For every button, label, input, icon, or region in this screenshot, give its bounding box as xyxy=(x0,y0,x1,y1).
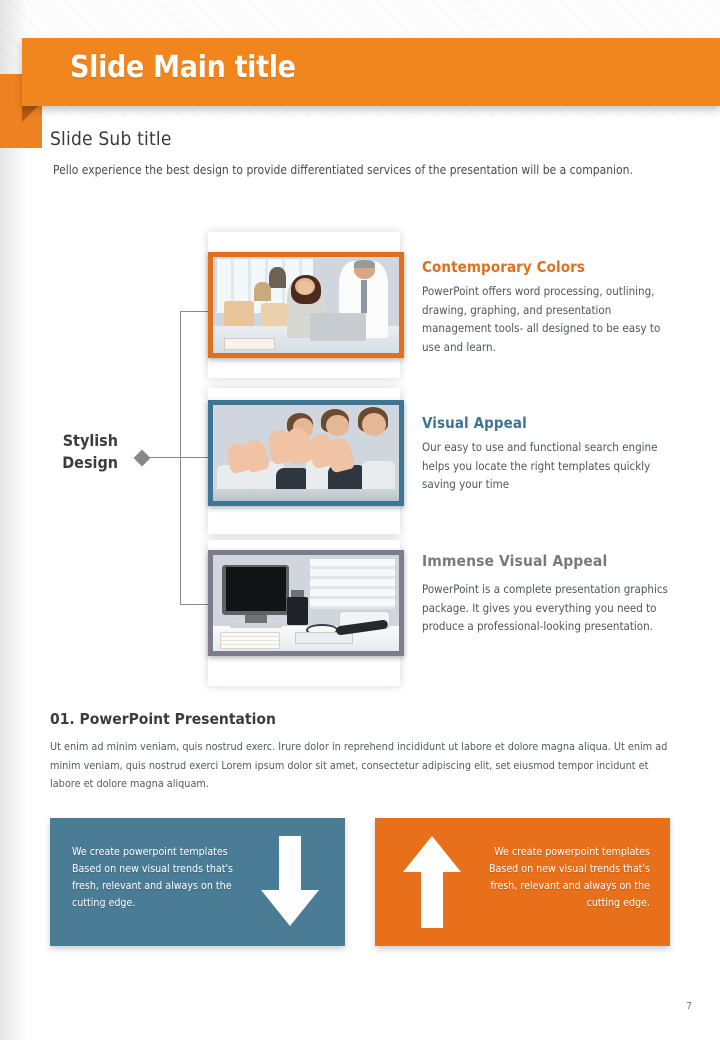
office-meeting-photo xyxy=(213,257,399,353)
slide-lead-text: Pello experience the best design to prov… xyxy=(53,163,633,177)
page-number: 7 xyxy=(686,1001,692,1012)
slide-canvas: Slide Main title Slide Sub title Pello e… xyxy=(0,0,720,1040)
connector-line-bottom-branch xyxy=(180,604,208,605)
feature-heading-1: Contemporary Colors xyxy=(422,258,672,276)
feature-photo-frame-2[interactable] xyxy=(208,400,404,506)
feature-body-1: PowerPoint offers word processing, outli… xyxy=(422,282,672,357)
connector-line-main xyxy=(148,457,208,458)
left-edge-shadow xyxy=(0,0,28,1040)
section-title: 01. PowerPoint Presentation xyxy=(50,710,276,728)
feature-group-label-line1: Stylish xyxy=(63,431,118,450)
arrow-up-icon xyxy=(401,836,463,928)
feature-group-label-line2: Design xyxy=(62,453,118,472)
feature-photo-frame-1[interactable] xyxy=(208,252,404,358)
ribbon-bar: Slide Main title xyxy=(22,38,720,106)
feature-heading-2: Visual Appeal xyxy=(422,414,672,432)
feature-body-3: PowerPoint is a complete presentation gr… xyxy=(422,580,672,636)
desk-workspace-photo xyxy=(213,555,399,651)
connector-line-vertical xyxy=(180,311,181,604)
feature-text-block-1: Contemporary Colors PowerPoint offers wo… xyxy=(422,258,672,357)
slide-main-title: Slide Main title xyxy=(70,50,296,85)
cta-left-text: We create powerpoint templates Based on … xyxy=(72,844,242,913)
applause-photo xyxy=(213,405,399,501)
arrow-down-icon xyxy=(259,836,321,928)
feature-group-label: Stylish Design xyxy=(28,430,118,473)
cta-right-text: We create powerpoint templates Based on … xyxy=(480,844,650,913)
cta-box-right[interactable]: We create powerpoint templates Based on … xyxy=(375,818,670,946)
section-body: Ut enim ad minim veniam, quis nostrud ex… xyxy=(50,738,675,794)
feature-heading-3: Immense Visual Appeal xyxy=(422,552,672,570)
connector-line-top-branch xyxy=(180,311,208,312)
cta-box-left[interactable]: We create powerpoint templates Based on … xyxy=(50,818,345,946)
feature-text-block-2: Visual Appeal Our easy to use and functi… xyxy=(422,414,672,494)
feature-body-2: Our easy to use and functional search en… xyxy=(422,438,672,494)
feature-text-block-3: Immense Visual Appeal PowerPoint is a co… xyxy=(422,552,672,636)
slide-sub-title: Slide Sub title xyxy=(50,128,172,150)
feature-photo-frame-3[interactable] xyxy=(208,550,404,656)
